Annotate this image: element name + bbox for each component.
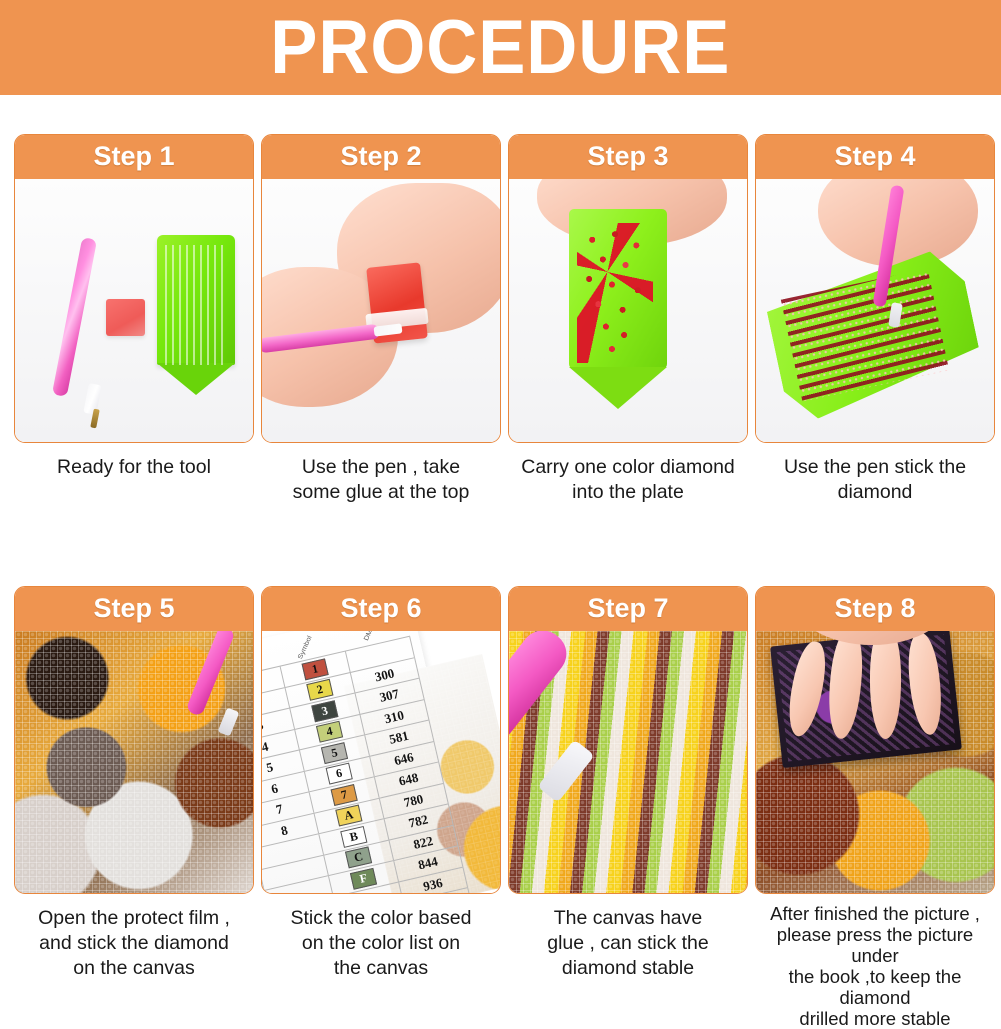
step-6-label: Step 6: [340, 595, 421, 622]
red-diamonds-icon: [577, 223, 653, 363]
step-6-caption: Stick the color basedon the color list o…: [261, 894, 501, 981]
step-2-label: Step 2: [340, 143, 421, 170]
color-swatch: F: [350, 867, 377, 889]
color-swatch: 4: [316, 720, 343, 742]
step-7-image: [509, 631, 747, 893]
page-title: PROCEDURE: [270, 10, 730, 86]
step-3-caption: Carry one color diamondinto the plate: [508, 443, 748, 505]
color-swatch: 3: [311, 700, 338, 722]
step-5-image: [15, 631, 253, 893]
color-swatch: 2: [306, 679, 333, 701]
step-5-caption: Open the protect film ,and stick the dia…: [14, 894, 254, 981]
tray-grooves-icon: [165, 245, 225, 365]
step-card-8[interactable]: Step 8 After finished the picture ,pleas…: [755, 586, 995, 1029]
step-8-header: Step 8: [756, 587, 995, 631]
step-4-caption: Use the pen stick thediamond: [755, 443, 995, 505]
finger-1: [783, 639, 831, 739]
step-4-header: Step 4: [756, 135, 995, 179]
color-swatch: A: [335, 804, 362, 826]
step-4-label: Step 4: [834, 143, 915, 170]
step-7-caption: The canvas haveglue , can stick thediamo…: [508, 894, 748, 981]
step-5-header: Step 5: [15, 587, 254, 631]
step-1-label: Step 1: [93, 143, 174, 170]
step-card-2-frame: Step 2: [261, 134, 501, 443]
step-2-image: [262, 179, 500, 442]
step-card-4[interactable]: Step 4 Use the pen stick thediamond: [755, 134, 995, 505]
pressing-hand-icon: [786, 631, 966, 737]
color-swatch: C: [345, 846, 372, 868]
step-7-label: Step 7: [587, 595, 668, 622]
step-card-4-frame: Step 4: [755, 134, 995, 443]
color-swatch: 5: [321, 741, 348, 763]
steps-grid-row-1: Step 1 Ready for the tool Step 2: [14, 134, 988, 505]
finger-2: [825, 631, 865, 740]
step-card-1[interactable]: Step 1 Ready for the tool: [14, 134, 254, 505]
step-4-image: [756, 179, 994, 442]
step-card-1-frame: Step 1: [14, 134, 254, 443]
color-swatch: B: [340, 825, 367, 847]
step-3-label: Step 3: [587, 143, 668, 170]
color-swatch: 7: [330, 783, 357, 805]
step-7-header: Step 7: [509, 587, 748, 631]
step-card-3[interactable]: Step 3 Carry one color diamondinto the p…: [508, 134, 748, 505]
finger-3: [870, 631, 901, 739]
step-card-6-frame: Step 6 Serial Symbol DMC 112230033307443…: [261, 586, 501, 894]
step-card-5-frame: Step 5: [14, 586, 254, 894]
step-3-header: Step 3: [509, 135, 748, 179]
step-2-caption: Use the pen , takesome glue at the top: [261, 443, 501, 505]
step-card-8-frame: Step 8: [755, 586, 995, 894]
step-card-5[interactable]: Step 5 Open the protect film ,and stick …: [14, 586, 254, 1029]
step-1-header: Step 1: [15, 135, 254, 179]
step-6-image: Serial Symbol DMC 1122300333074431055581…: [262, 631, 500, 893]
step-2-header: Step 2: [262, 135, 501, 179]
step-card-6[interactable]: Step 6 Serial Symbol DMC 112230033307443…: [261, 586, 501, 1029]
step-6-header: Step 6: [262, 587, 501, 631]
steps-grid-row-2: Step 5 Open the protect film ,and stick …: [14, 586, 988, 1029]
step-5-label: Step 5: [93, 595, 174, 622]
step-8-image: [756, 631, 994, 893]
step-card-3-frame: Step 3: [508, 134, 748, 443]
color-swatch: 6: [326, 762, 353, 784]
step-card-2[interactable]: Step 2 Use the pen , takesome glue at th…: [261, 134, 501, 505]
step-1-caption: Ready for the tool: [14, 443, 254, 480]
step-8-label: Step 8: [834, 595, 915, 622]
glue-square-icon: [106, 299, 145, 336]
step-3-image: [509, 179, 747, 442]
step-1-image: [15, 179, 253, 442]
page-header-banner: PROCEDURE: [0, 0, 1001, 95]
step-8-caption: After finished the picture ,please press…: [755, 894, 995, 1029]
step-card-7-frame: Step 7: [508, 586, 748, 894]
step-card-7[interactable]: Step 7 The canvas haveglue , can stick t…: [508, 586, 748, 1029]
finger-4: [905, 631, 945, 736]
